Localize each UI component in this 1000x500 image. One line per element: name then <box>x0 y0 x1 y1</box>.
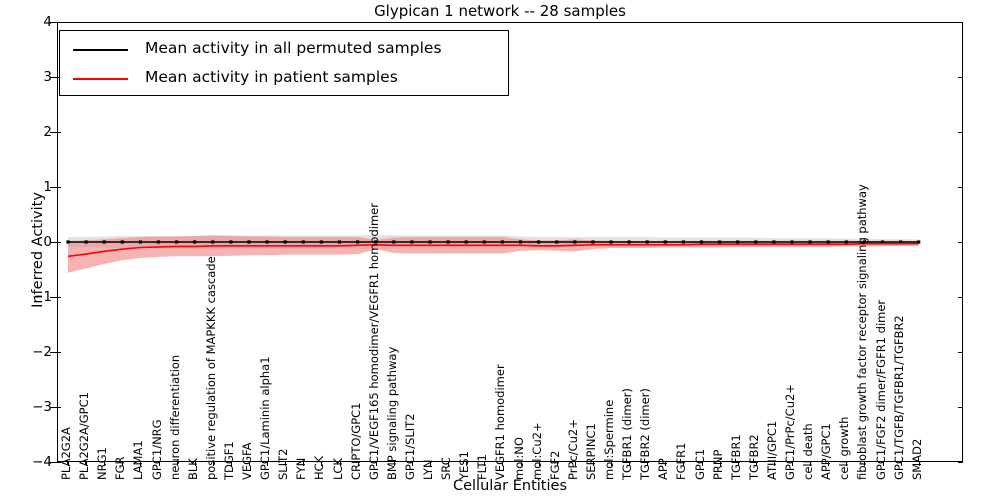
y-tick-mark-right <box>958 297 963 298</box>
x-tick-label: BMP signaling pathway <box>387 347 398 480</box>
y-tick-mark <box>50 22 57 23</box>
x-tick-label: mol:Cu2+ <box>532 422 543 480</box>
x-tick-label: GPC1/NRG <box>152 419 163 480</box>
x-tick-label: positive regulation of MAPKKK cascade <box>206 256 217 480</box>
y-tick-mark-inner <box>57 187 61 188</box>
legend-line-swatch <box>73 49 128 51</box>
y-tick-mark-right <box>958 77 963 78</box>
y-tick-mark <box>50 407 57 408</box>
x-tick-label: TGFBR1 (dimer) <box>622 388 633 480</box>
y-tick-mark-right <box>958 352 963 353</box>
y-tick-label: 4 <box>12 14 52 30</box>
y-tick-mark-right <box>958 187 963 188</box>
x-tick-label: neuron differentiation <box>170 355 181 480</box>
x-tick-label: ATIII/GPC1 <box>767 421 778 480</box>
x-tick-label: SERPINC1 <box>586 423 597 480</box>
y-tick-mark-right <box>958 22 963 23</box>
y-tick-mark-inner <box>57 297 61 298</box>
y-tick-label: 3 <box>12 69 52 85</box>
x-tick-label: BLK <box>188 458 199 480</box>
y-tick-mark-right <box>958 132 963 133</box>
x-tick-label: GPC1/SLIT2 <box>405 413 416 480</box>
x-tick-label: TDGF1 <box>224 441 235 480</box>
legend-label: Mean activity in all permuted samples <box>145 39 442 57</box>
x-tick-label: PrPc/Cu2+ <box>568 419 579 480</box>
x-tick-label: SMAD2 <box>912 439 923 480</box>
legend-item[interactable]: Mean activity in all permuted samples <box>60 35 508 65</box>
y-tick-mark-inner <box>57 22 61 23</box>
x-tick-label: PRNP <box>713 450 724 480</box>
y-tick-mark <box>50 77 57 78</box>
legend-line-swatch <box>73 78 128 80</box>
x-tick-label: APP <box>658 458 669 480</box>
chart-title: Glypican 1 network -- 28 samples <box>0 2 1000 20</box>
y-tick-mark <box>50 297 57 298</box>
chart-figure: Glypican 1 network -- 28 samples 43210−1… <box>0 0 1000 500</box>
x-tick-label: NRG1 <box>97 447 108 480</box>
y-tick-mark-inner <box>57 407 61 408</box>
y-axis-label: Inferred Activity <box>30 120 46 380</box>
y-tick-mark-right <box>958 242 963 243</box>
chart-legend: Mean activity in all permuted samplesMea… <box>59 30 509 96</box>
x-tick-label: TGFBR2 (dimer) <box>640 388 651 480</box>
x-tick-label: PLA2G2A/GPC1 <box>79 392 90 480</box>
y-tick-mark <box>50 132 57 133</box>
y-tick-mark <box>50 187 57 188</box>
x-tick-label: GPC1 <box>695 449 706 480</box>
x-tick-label: LYN <box>423 459 434 480</box>
x-tick-label: GPC1/Laminin alpha1 <box>260 356 271 480</box>
x-tick-label: mol:NO <box>514 437 525 480</box>
x-tick-label: GPC1/PrPc/Cu2+ <box>785 384 796 480</box>
x-tick-label: APP/GPC1 <box>821 423 832 480</box>
x-tick-label: GPC1/TGFB/TGFBR1/TGFBR2 <box>894 315 905 480</box>
x-tick-label: HCK <box>314 456 325 480</box>
y-tick-mark-inner <box>57 132 61 133</box>
y-tick-label: −3 <box>12 399 52 415</box>
x-tick-label: FGR <box>115 456 126 480</box>
legend-item[interactable]: Mean activity in patient samples <box>60 64 508 94</box>
y-tick-mark-inner <box>57 352 61 353</box>
x-tick-label: CRIPTO/GPC1 <box>351 403 362 481</box>
y-tick-mark <box>50 352 57 353</box>
x-tick-label: GPC1/FGF2 dimer/FGFR1 dimer <box>876 300 887 480</box>
x-tick-label: SLIT2 <box>278 449 289 480</box>
x-tick-label: LCK <box>333 458 344 480</box>
x-tick-label: TGFBR2 <box>749 434 760 480</box>
y-tick-mark-inner <box>57 242 61 243</box>
x-tick-label: VEGFR1 homodimer <box>495 364 506 480</box>
y-tick-mark-right <box>958 407 963 408</box>
x-tick-label: LAMA1 <box>133 440 144 480</box>
x-tick-label: FGF2 <box>550 451 561 480</box>
x-tick-label: SRC <box>441 457 452 480</box>
x-tick-label: fibroblast growth factor receptor signal… <box>857 184 868 480</box>
x-tick-label: VEGFA <box>242 443 253 480</box>
x-tick-label: FGFR1 <box>676 443 687 480</box>
x-tick-label: mol:Spermine <box>604 400 615 480</box>
x-tick-label: FYN <box>296 458 307 480</box>
legend-label: Mean activity in patient samples <box>145 68 398 86</box>
x-tick-label: YES1 <box>459 451 470 480</box>
x-tick-label: FLT1 <box>477 454 488 480</box>
x-tick-label: cell growth <box>839 417 850 480</box>
x-tick-label: cell death <box>803 423 814 480</box>
x-tick-label: GPC1/VEGF165 homodimer/VEGFR1 homodimer <box>369 203 380 480</box>
x-tick-label: PLA2G2A <box>61 427 72 480</box>
y-tick-mark <box>50 242 57 243</box>
x-axis-label: Cellular Entities <box>57 478 963 494</box>
x-tick-label: TGFBR1 <box>731 434 742 480</box>
